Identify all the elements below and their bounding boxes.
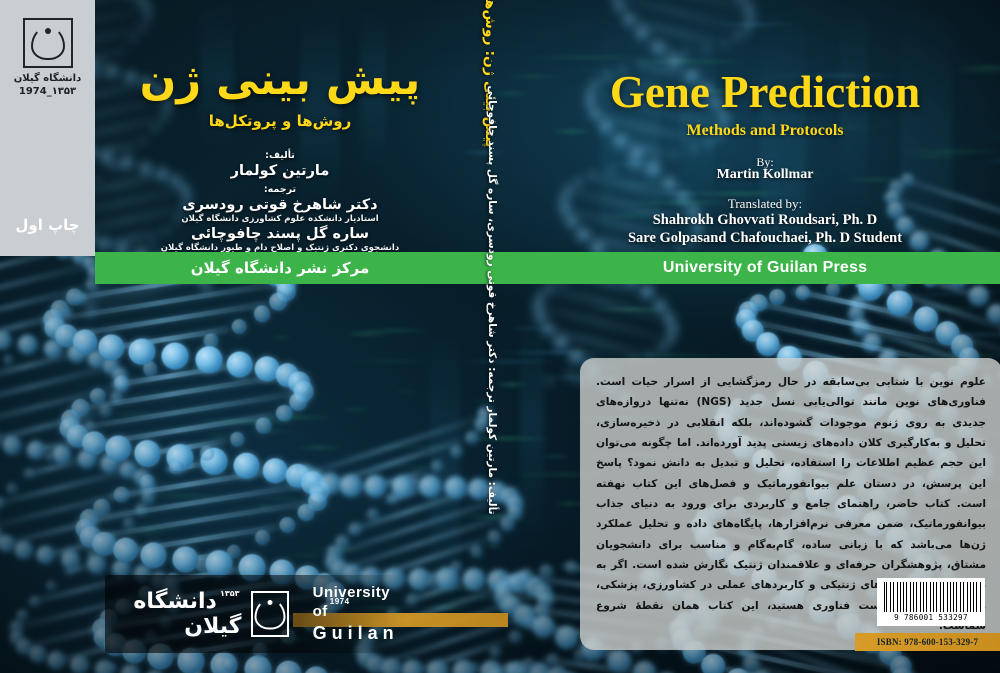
flap-university-name-fa: دانشگاه گیلان (0, 73, 95, 84)
university-lockup-line2: Guilan (313, 622, 405, 645)
isbn-bar: ISBN: 978-600-153-329-7 (855, 633, 1000, 651)
back-translator-1-en: Shahrokh Ghovvati Roudsari, Ph. D (530, 212, 1000, 229)
university-year-fa: ۱۳۵۳ (220, 589, 240, 598)
front-title-fa: پیش بینی ژن (113, 56, 447, 104)
guilan-crest-icon (251, 591, 288, 637)
back-title-en: Gene Prediction (530, 66, 1000, 118)
edition-label: چاپ اول (0, 216, 95, 234)
publisher-name-fa: مرکز نشر دانشگاه گیلان (191, 259, 370, 277)
front-credits-block: تألیف: مارتین کولمار ترجمه: دکتر شاهرخ ق… (109, 145, 451, 253)
author-name-fa: مارتین کولمار (109, 163, 451, 179)
front-cover: پیش بینی ژن روش‌ها و پروتکل‌ها تألیف: ما… (95, 0, 465, 673)
barcode-number: 9 786001 533297 (882, 613, 980, 622)
guilan-crest-icon (23, 18, 73, 68)
book-spine: پیش بینی ژن: روش‌ها و پروتکل‌ها تألیف: م… (465, 0, 530, 673)
translator-1-affiliation-fa: استادیار دانشکده علوم کشاورزی دانشگاه گی… (109, 214, 451, 224)
publisher-band-fa: مرکز نشر دانشگاه گیلان (95, 252, 465, 284)
author-label-fa: تألیف: (109, 150, 451, 161)
barcode-bars (882, 582, 980, 612)
flap-years: ۱۳۵۳_1974 (0, 86, 95, 97)
university-lockup-line1: University of (313, 584, 391, 620)
barcode: 9 786001 533297 (877, 578, 985, 626)
translator-label-fa: ترجمه: (109, 184, 451, 195)
flap-university-logo: دانشگاه گیلان ۱۳۵۳_1974 (0, 18, 95, 97)
spine-credits: تألیف: مارتین کولمار ترجمه: دکتر شاهرخ ق… (486, 86, 498, 515)
back-author-en: Martin Kollmar (530, 167, 1000, 183)
translated-by-label: Translated by: (530, 196, 1000, 212)
translator-2-name-fa: ساره گل پسند چافوچائی (109, 226, 451, 242)
back-cover: Gene Prediction Methods and Protocols By… (530, 0, 1000, 673)
isbn-text: ISBN: 978-600-153-329-7 (877, 637, 978, 647)
back-subtitle-en: Methods and Protocols (530, 122, 1000, 140)
university-lockup: University of1974 Guilan ۱۳۵۳ دانشگاه گی… (105, 575, 405, 653)
front-subtitle-fa: روش‌ها و پروتکل‌ها (113, 112, 447, 130)
university-year-en: 1974 (330, 597, 350, 606)
book-cover: دانشگاه گیلان ۱۳۵۳_1974 چاپ اول پیش بینی… (0, 0, 1000, 673)
cover-flap: دانشگاه گیلان ۱۳۵۳_1974 چاپ اول (0, 0, 95, 256)
university-lockup-en: University of1974 Guilan (313, 584, 405, 644)
translator-1-name-fa: دکتر شاهرخ قوتی رودسری (109, 197, 451, 213)
back-translator-2-en: Sare Golpasand Chafouchaei, Ph. D Studen… (530, 230, 1000, 247)
